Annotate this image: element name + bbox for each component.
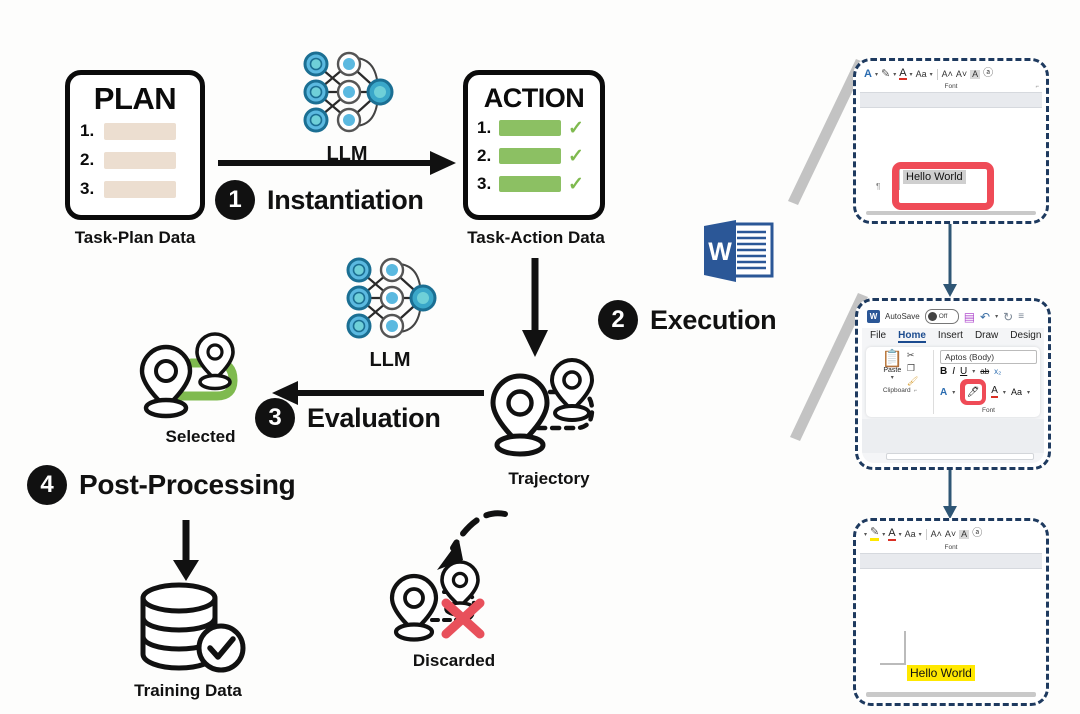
chevron-down-icon[interactable]: ▾ xyxy=(995,313,998,320)
selected-icon-group: Selected xyxy=(133,330,268,447)
panel3-ruler-strip xyxy=(860,553,1042,569)
training-data-icon-group: Training Data xyxy=(113,582,263,701)
word-logo: W xyxy=(702,218,774,291)
database-icon xyxy=(113,582,263,674)
plan-item-bar xyxy=(104,181,176,198)
panel1-document-text[interactable]: Hello World xyxy=(903,170,966,184)
action-item-check: ✓ xyxy=(568,119,584,138)
paste-label: Paste xyxy=(883,367,901,374)
font-color-icon[interactable]: A xyxy=(888,528,895,540)
action-card: ACTION 1. ✓ 2. ✓ 3. ✓ xyxy=(463,70,605,220)
arrow-panel1-to-panel2 xyxy=(940,224,960,298)
autosave-state: Off xyxy=(939,313,948,320)
neural-network-icon xyxy=(335,250,445,346)
italic-button[interactable]: I xyxy=(952,366,955,377)
arrow-plan-to-action xyxy=(218,150,458,176)
text-cursor xyxy=(904,631,906,665)
copy-icon[interactable]: ❐ xyxy=(907,363,918,374)
toolbar-divider xyxy=(926,529,927,540)
chevron-down-icon[interactable]: ▾ xyxy=(1027,389,1030,396)
clipboard-group-label: Clipboard xyxy=(883,387,911,394)
word-panel-font-toolbar-selection[interactable]: A▾ ✎▾ A▾ Aa▾ A˄ A˅ A ⓐ Font ⌐ ¶ Hello Wo… xyxy=(853,58,1049,224)
tab-design[interactable]: Design xyxy=(1010,330,1041,343)
plan-item-number: 3. xyxy=(80,179,104,199)
arrow-to-training-data xyxy=(172,520,200,582)
selected-caption: Selected xyxy=(133,427,268,447)
step-badge-4: 4 xyxy=(27,465,67,505)
tab-file[interactable]: File xyxy=(870,330,886,343)
plan-item-bar xyxy=(104,123,176,140)
grow-font-icon[interactable]: A˄ xyxy=(942,70,953,79)
subscript-button[interactable]: x₂ xyxy=(994,367,1001,376)
chevron-down-icon[interactable]: ▾ xyxy=(919,531,922,538)
chevron-down-icon[interactable]: ▾ xyxy=(882,531,885,538)
chevron-down-icon[interactable]: ▾ xyxy=(891,374,894,381)
neural-network-icon xyxy=(292,44,402,140)
redo-icon[interactable]: ↻ xyxy=(1003,310,1013,324)
action-item-check: ✓ xyxy=(568,147,584,166)
panel2-titlebar[interactable]: W AutoSave Off ▤ ↶ ▾ ↻ ≡ xyxy=(862,305,1044,328)
strikethrough-button[interactable]: ab xyxy=(980,367,989,376)
action-item-number: 1. xyxy=(477,118,499,138)
step-label-execution: Execution xyxy=(650,305,776,336)
action-item-bar xyxy=(499,148,561,164)
change-case-icon[interactable]: Aa xyxy=(1011,387,1022,397)
character-shading-icon[interactable]: A xyxy=(959,530,969,539)
font-color-row[interactable]: A ▾ 🖊 A ▾ Aa ▾ xyxy=(940,379,1037,405)
clipboard-dialog-launcher-icon[interactable]: ⌐ xyxy=(914,388,918,394)
selected-trajectory-icon xyxy=(133,330,263,420)
action-item-bar xyxy=(499,120,561,136)
text-effects-icon[interactable]: A xyxy=(864,69,872,80)
plan-item-number: 1. xyxy=(80,121,104,141)
chevron-down-icon[interactable]: ▾ xyxy=(899,531,902,538)
word-app-icon[interactable]: W xyxy=(867,310,880,323)
shrink-font-icon[interactable]: A˅ xyxy=(945,530,956,539)
action-item-number: 3. xyxy=(477,174,499,194)
chevron-down-icon[interactable]: ▾ xyxy=(1003,389,1006,396)
character-border-icon[interactable]: ⓐ xyxy=(983,69,993,79)
tab-insert[interactable]: Insert xyxy=(938,330,963,343)
step-label-evaluation: Evaluation xyxy=(307,403,441,434)
step-badge-2: 2 xyxy=(598,300,638,340)
font-color-icon[interactable]: A xyxy=(899,68,906,80)
tab-draw[interactable]: Draw xyxy=(975,330,998,343)
character-border-icon[interactable]: ⓐ xyxy=(972,529,982,539)
plan-card-title: PLAN xyxy=(70,81,200,117)
character-shading-icon[interactable]: A xyxy=(970,70,980,79)
paste-icon[interactable]: 📋 xyxy=(882,350,903,367)
chevron-down-icon[interactable]: ▾ xyxy=(864,531,867,538)
discarded-trajectory-icon xyxy=(384,560,524,646)
panel2-ribbon-tabs[interactable]: File Home Insert Draw Design xyxy=(862,328,1044,345)
more-icon[interactable]: ≡ xyxy=(1018,311,1024,322)
chevron-down-icon[interactable]: ▾ xyxy=(875,71,878,78)
ribbon-divider xyxy=(933,350,934,414)
text-highlight-color-button[interactable]: 🖊 xyxy=(960,379,986,405)
font-color-icon[interactable]: A xyxy=(991,386,998,398)
tab-home[interactable]: Home xyxy=(898,330,926,343)
font-group-label: Font xyxy=(982,407,995,414)
arrow-panel2-to-panel3 xyxy=(940,470,960,520)
shrink-font-icon[interactable]: A˅ xyxy=(956,70,967,79)
margin-mark xyxy=(880,663,906,665)
step-execution: 2 Execution xyxy=(598,300,776,340)
panel1-font-group-label: Font xyxy=(860,83,1042,90)
panel1-ruler-strip xyxy=(860,92,1042,108)
change-case-icon[interactable]: Aa xyxy=(905,530,916,539)
chevron-down-icon[interactable]: ▾ xyxy=(952,389,955,396)
font-name-box[interactable]: Aptos (Body) xyxy=(940,350,1037,364)
save-icon[interactable]: ▤ xyxy=(964,310,975,324)
action-item-bar xyxy=(499,176,561,192)
text-highlight-icon[interactable]: ✎ xyxy=(870,528,879,541)
autosave-toggle[interactable]: Off xyxy=(925,309,959,324)
microsoft-word-icon: W xyxy=(702,218,774,286)
undo-icon[interactable]: ↶ xyxy=(980,310,990,324)
panel2-ribbon[interactable]: 📋 Paste ▾ ✂ ❐ 🖌 Clipboard ⌐ xyxy=(866,347,1040,417)
autosave-label: AutoSave xyxy=(885,312,920,321)
panel1-scrollbar[interactable] xyxy=(866,211,1036,215)
step-label-instantiation: Instantiation xyxy=(267,185,424,216)
panel3-document-text[interactable]: Hello World xyxy=(907,665,975,681)
word-panel-ribbon-highlight-button[interactable]: W AutoSave Off ▤ ↶ ▾ ↻ ≡ File Home Inser… xyxy=(855,298,1051,470)
toolbar-divider xyxy=(937,69,938,80)
action-card-title: ACTION xyxy=(468,83,600,114)
figure-canvas: PLAN 1. 2. 3. Task-Plan Data xyxy=(0,0,1080,714)
step-badge-1: 1 xyxy=(215,180,255,220)
panel1-font-toolbar[interactable]: A▾ ✎▾ A▾ Aa▾ A˄ A˅ A ⓐ xyxy=(860,65,1042,83)
panel3-font-group-label: Font xyxy=(860,544,1042,551)
step-evaluation: 3 Evaluation xyxy=(255,398,441,438)
text-highlight-icon[interactable]: ✎ xyxy=(881,69,890,80)
llm-label: LLM xyxy=(330,349,450,372)
discarded-caption: Discarded xyxy=(384,651,524,671)
trajectory-icon-group: Trajectory xyxy=(484,352,614,489)
panel3-font-toolbar[interactable]: ▾ ✎▾ A▾ Aa▾ A˄ A˅ A ⓐ xyxy=(860,525,1042,544)
arrow-action-to-trajectory xyxy=(521,258,549,358)
chevron-down-icon[interactable]: ▾ xyxy=(930,71,933,78)
panel3-document-area[interactable]: Hello World xyxy=(860,569,1042,692)
discarded-icon-group: Discarded xyxy=(384,560,524,671)
font-style-row[interactable]: B I U ▾ ab x₂ xyxy=(940,366,1037,377)
panel3-scrollbar[interactable] xyxy=(866,692,1036,697)
training-data-caption: Training Data xyxy=(113,681,263,701)
llm-icon-instantiation: LLM xyxy=(287,44,407,166)
bold-button[interactable]: B xyxy=(940,366,947,377)
action-card-caption: Task-Action Data xyxy=(438,228,634,248)
llm-icon-evaluation: LLM xyxy=(330,250,450,372)
panel1-document-area[interactable]: ¶ Hello World xyxy=(860,108,1042,211)
trajectory-icon xyxy=(484,352,614,462)
chevron-down-icon[interactable]: ▾ xyxy=(893,71,896,78)
step-post-processing: 4 Post-Processing xyxy=(27,465,295,505)
change-case-icon[interactable]: Aa xyxy=(916,70,927,79)
word-panel-result-yellow-highlight[interactable]: ▾ ✎▾ A▾ Aa▾ A˄ A˅ A ⓐ Font Hello World xyxy=(853,518,1049,706)
plan-card-caption: Task-Plan Data xyxy=(40,228,230,248)
underline-button[interactable]: U xyxy=(960,366,967,377)
grow-font-icon[interactable]: A˄ xyxy=(931,530,942,539)
svg-text:W: W xyxy=(708,238,732,266)
step-instantiation: 1 Instantiation xyxy=(215,180,424,220)
clipboard-group[interactable]: 📋 Paste ▾ ✂ ❐ 🖌 Clipboard ⌐ xyxy=(869,350,931,414)
paragraph-mark-icon: ¶ xyxy=(876,182,880,191)
step-label-post-processing: Post-Processing xyxy=(79,469,295,501)
panel2-scrollbar[interactable] xyxy=(886,453,1034,460)
toggle-knob xyxy=(928,312,937,321)
plan-item-bar xyxy=(104,152,176,169)
format-painter-icon[interactable]: 🖌 xyxy=(907,376,918,387)
highlighter-pen-icon: 🖊 xyxy=(965,384,982,401)
trajectory-caption: Trajectory xyxy=(484,469,614,489)
action-item-check: ✓ xyxy=(568,175,584,194)
chevron-down-icon[interactable]: ▾ xyxy=(972,368,975,375)
text-effects-icon[interactable]: A xyxy=(940,387,947,398)
cut-icon[interactable]: ✂ xyxy=(907,350,918,361)
font-group[interactable]: Aptos (Body) B I U ▾ ab x₂ A ▾ 🖊 xyxy=(936,350,1037,414)
plan-card: PLAN 1. 2. 3. xyxy=(65,70,205,220)
plan-item-number: 2. xyxy=(80,150,104,170)
step-badge-3: 3 xyxy=(255,398,295,438)
action-item-number: 2. xyxy=(477,146,499,166)
chevron-down-icon[interactable]: ▾ xyxy=(910,71,913,78)
